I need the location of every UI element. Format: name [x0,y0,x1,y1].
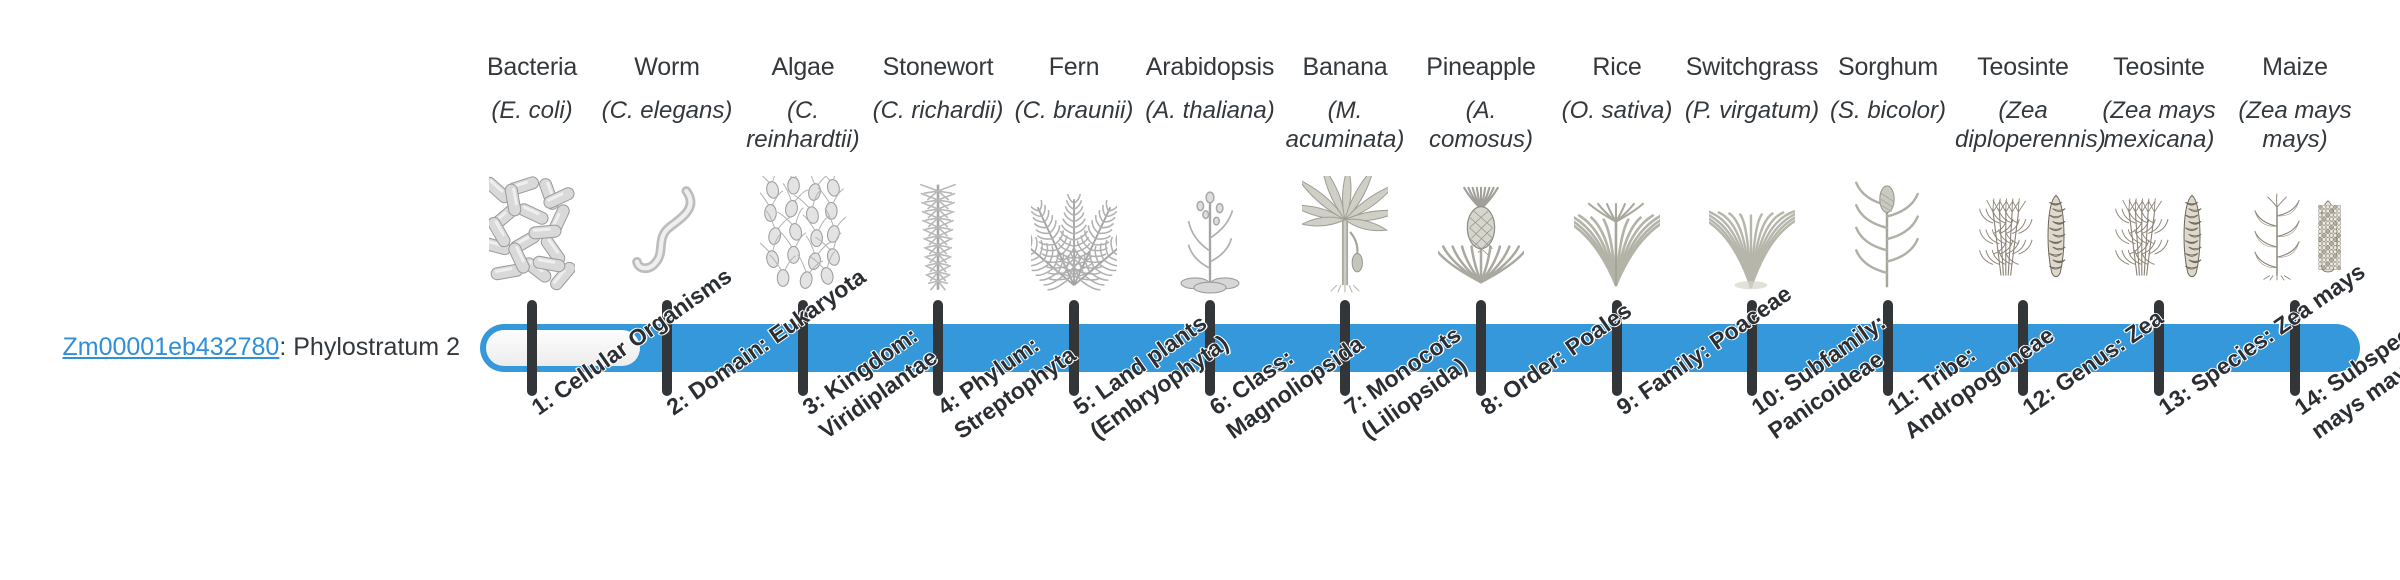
species-latin-name: (A. thaliana) [1142,96,1278,125]
species-column: Sorghum(S. bicolor) [1820,52,1956,125]
species-latin-name: (Zea mays mays) [2227,96,2363,154]
species-latin-name: (P. virgatum) [1684,96,1820,125]
species-column: Stonewort(C. richardii) [870,52,1006,125]
species-common-name: Fern [1006,52,1142,82]
species-common-name: Stonewort [870,52,1006,82]
switchgrass-illustration [1709,176,1795,294]
species-latin-name: (C. reinhardtii) [735,96,871,154]
species-latin-name: (C. richardii) [870,96,1006,125]
species-column: Switchgrass(P. virgatum) [1684,52,1820,125]
species-common-name: Pineapple [1413,52,1549,82]
species-column: Fern(C. braunii) [1006,52,1142,125]
species-common-name: Arabidopsis [1142,52,1278,82]
teosinte-plant-illustration [1974,176,2036,294]
species-column: Teosinte(Zea mays mexicana) [2091,52,2227,154]
species-column: Banana(M. acuminata) [1277,52,1413,154]
maize-plant-illustration [2246,176,2308,294]
species-column: Rice(O. sativa) [1549,52,1685,125]
species-latin-name: (Zea mays mexicana) [2091,96,2227,154]
phylostratum-tick[interactable] [527,300,537,396]
species-common-name: Switchgrass [1684,52,1820,82]
species-latin-name: (C. braunii) [1006,96,1142,125]
species-common-name: Sorghum [1820,52,1956,82]
banana-tree-illustration [1302,176,1388,294]
phylostratum-timeline-widget: Zm00001eb432780: Phylostratum 2 Bacteria… [0,0,2400,580]
bacteria-rods-illustration [489,176,575,294]
species-column: Worm(C. elegans) [599,52,735,125]
species-latin-name: (E. coli) [464,96,600,125]
teosinte-plant-illustration [2110,176,2172,294]
species-common-name: Worm [599,52,735,82]
species-common-name: Maize [2227,52,2363,82]
species-latin-name: (O. sativa) [1549,96,1685,125]
species-column: Bacteria(E. coli) [464,52,600,125]
species-common-name: Teosinte [1955,52,2091,82]
species-column: Arabidopsis(A. thaliana) [1142,52,1278,125]
nematode-worm-illustration [624,176,710,294]
species-column: Teosinte(Zea diploperennis) [1955,52,2091,154]
stonewort-illustration [895,176,981,294]
species-common-name: Teosinte [2091,52,2227,82]
species-column: Algae(C. reinhardtii) [735,52,871,154]
species-column: Maize(Zea mays mays) [2227,52,2363,154]
species-latin-name: (M. acuminata) [1277,96,1413,154]
species-latin-name: (Zea diploperennis) [1955,96,2091,154]
species-common-name: Bacteria [464,52,600,82]
species-common-name: Rice [1549,52,1685,82]
species-common-name: Algae [735,52,871,82]
species-illustration-group [457,168,607,294]
species-latin-name: (S. bicolor) [1820,96,1956,125]
species-latin-name: (A. comosus) [1413,96,1549,154]
species-latin-name: (C. elegans) [599,96,735,125]
species-common-name: Banana [1277,52,1413,82]
species-column: Pineapple(A. comosus) [1413,52,1549,154]
